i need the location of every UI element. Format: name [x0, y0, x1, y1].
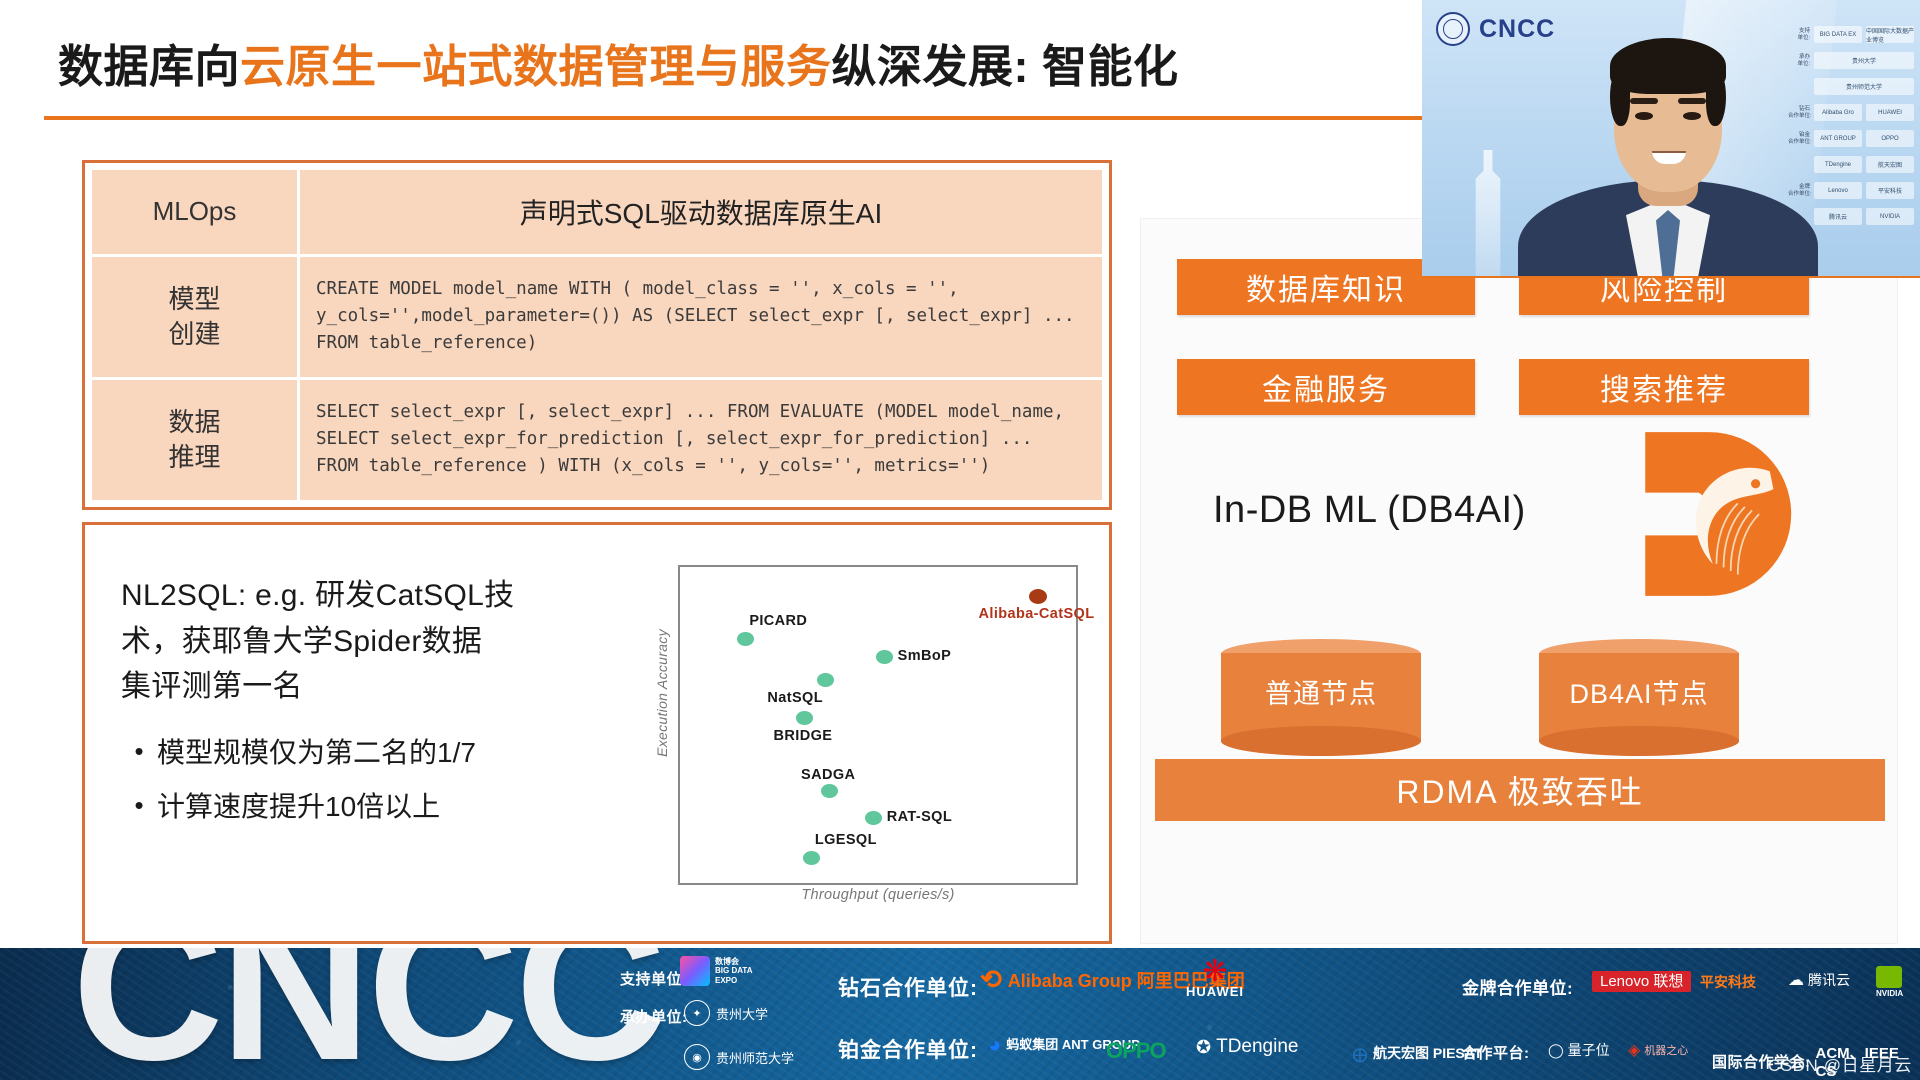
chart-point-label-bridge: BRIDGE — [774, 728, 833, 744]
title-segment-1: 数据库向 — [58, 30, 240, 95]
footer-group-label: 支持单位: — [620, 971, 688, 988]
nl2sql-line-2: 术，获耶鲁大学Spider数据 — [121, 619, 591, 665]
scatter-chart: Execution Accuracy PICARDSmBoPNatSQLBRID… — [630, 565, 1080, 905]
footer-logo-label: 量子位 — [1568, 1040, 1610, 1060]
footer-logo-guizhou-normal-university: ◉ 贵州师范大学 — [684, 1044, 794, 1070]
sponsor-footer: CNCC 支持单位: 数博会BIG DATAEXPO 承办单位: ✦ 贵州大学 … — [0, 948, 1920, 1080]
slide-canvas: 数据库向 云原生一站式数据管理与服务 纵深发展: 智能化 MLOps 声明式SQ… — [0, 0, 1920, 1080]
footer-logo-label: 平安科技 — [1700, 974, 1756, 990]
pip-sponsor-tag: 承办 单位: — [1788, 54, 1810, 68]
ant-icon: ◕ — [988, 1032, 1001, 1058]
footer-logo-label: TDengine — [1216, 1036, 1298, 1058]
pip-sponsor-logo: 贵州大学 — [1814, 52, 1914, 69]
rdma-throughput-bar: RDMA 极致吞吐 — [1155, 759, 1885, 821]
pip-sponsor-tag: 支持 单位: — [1788, 28, 1810, 42]
pip-sponsor-logo: 航天宏图 — [1866, 156, 1914, 173]
huawei-flower-icon: ❋ — [1186, 960, 1244, 984]
chart-point-label-natsql: NatSQL — [767, 690, 823, 706]
pip-sponsor-logo: OPPO — [1866, 130, 1914, 147]
title-segment-2: 云原生一站式数据管理与服务 — [240, 30, 832, 95]
footer-logo-tdengine: ✪ TDengine — [1196, 1036, 1298, 1058]
footer-logo-oppo: OPPO — [1106, 1038, 1166, 1064]
row-label-data-inference: 数据 推理 — [92, 380, 297, 500]
pip-sponsor-row: TDengine航天宏图 — [1788, 156, 1914, 173]
cncc-logo: CNCC — [1436, 12, 1555, 46]
chart-point-bridge — [796, 711, 813, 725]
row-label-line-2: 创建 — [92, 317, 297, 352]
db4ai-panel: 数据库知识 风险控制 金融服务 搜索推荐 In-DB ML (DB4AI) 普通… — [1140, 218, 1898, 944]
cylinder-bottom — [1539, 726, 1739, 756]
title-segment-3: 纵深发展: 智能化 — [832, 30, 1179, 95]
chart-point-label-smbop: SmBoP — [898, 648, 952, 664]
pip-sponsor-row: 腾讯云NVIDIA — [1788, 208, 1914, 225]
nl2sql-line-1: NL2SQL: e.g. 研发CatSQL技 — [121, 573, 591, 619]
university-seal-icon: ✦ — [684, 1000, 710, 1026]
footer-logo-guizhou-university: ✦ 贵州大学 — [684, 1000, 768, 1026]
footer-logo-huawei: ❋ HUAWEI — [1186, 960, 1244, 999]
footer-logo-label: 贵州大学 — [716, 1004, 768, 1023]
footer-group-host: 承办单位: — [620, 1006, 688, 1027]
footer-logo-label: NVIDIA — [1876, 989, 1903, 998]
cncc-watermark: CNCC — [72, 948, 663, 1080]
table-row: MLOps 声明式SQL驱动数据库原生AI — [92, 170, 1102, 254]
video-overlay[interactable]: CNCC 支持 单位:BIG DATA EX中国国际大数据产业博览承办 单位:贵… — [1422, 0, 1920, 278]
pip-sponsor-logo: 腾讯云 — [1814, 208, 1862, 225]
node-label-normal: 普通节点 — [1221, 679, 1421, 710]
pip-sponsor-logo: Lenovo — [1814, 182, 1862, 199]
dolphin-d-logo-icon — [1631, 425, 1809, 603]
chart-plot-area: PICARDSmBoPNatSQLBRIDGESADGARAT-SQLLGESQ… — [678, 565, 1078, 885]
pip-sponsor-tag: 铂金 合作单位: — [1788, 132, 1810, 146]
node-cylinder-normal: 普通节点 — [1221, 639, 1421, 755]
row-label-model-create: 模型 创建 — [92, 257, 297, 377]
chart-point-label-alibaba-catsql: Alibaba-CatSQL — [979, 606, 1095, 622]
pip-sponsor-logo: 中国国际大数据产业博览 — [1866, 26, 1914, 43]
mlops-table: MLOps 声明式SQL驱动数据库原生AI 模型 创建 CREATE MODEL… — [82, 160, 1112, 510]
pip-sponsor-row: 铂金 合作单位:ANT GROUPOPPO — [1788, 130, 1914, 147]
pip-sponsor-tag: 钻石 合作单位: — [1788, 106, 1810, 120]
footer-logo-jiqizhixin: ◈ 机器之心 — [1628, 1040, 1688, 1060]
csdn-credit: CSDN @日星月云 — [1768, 1051, 1912, 1076]
pip-sponsor-list: 支持 单位:BIG DATA EX中国国际大数据产业博览承办 单位:贵州大学贵州… — [1788, 26, 1914, 225]
footer-group-label: 钻石合作单位: — [838, 977, 978, 1000]
footer-logo-bigdata-expo: 数博会BIG DATAEXPO — [680, 956, 752, 986]
alibaba-mark-icon: ⟲ — [980, 964, 1002, 995]
bullet-icon: • — [121, 732, 157, 771]
capability-box-search-recommend[interactable]: 搜索推荐 — [1519, 359, 1809, 415]
row-label-line-1: 模型 — [168, 284, 220, 314]
university-seal-icon: ◉ — [684, 1044, 710, 1070]
row-content-model-create: CREATE MODEL model_name WITH ( model_cla… — [300, 257, 1102, 377]
node-cylinder-db4ai: DB4AI节点 — [1539, 639, 1739, 755]
bullet-label: 计算速度提升10倍以上 — [157, 786, 440, 828]
footer-group-diamond: 钻石合作单位: — [838, 972, 978, 1002]
bullet-icon: • — [121, 786, 157, 825]
chart-point-label-picard: PICARD — [749, 613, 807, 629]
nl2sql-panel: NL2SQL: e.g. 研发CatSQL技 术，获耶鲁大学Spider数据 集… — [82, 522, 1112, 944]
footer-logo-qbitai: ◯ 量子位 — [1548, 1040, 1610, 1060]
table-row: 数据 推理 SELECT select_expr [, select_expr]… — [92, 380, 1102, 500]
footer-logo-label: 腾讯云 — [1808, 970, 1850, 990]
footer-logo-label: OPPO — [1106, 1038, 1166, 1063]
pip-sponsor-logo: HUAWEI — [1866, 104, 1914, 121]
list-item: • 计算速度提升10倍以上 — [121, 786, 591, 828]
pip-sponsor-logo: 贵州师范大学 — [1814, 78, 1914, 95]
pip-sponsor-logo: Alibaba Gro — [1814, 104, 1862, 121]
footer-group-label: 承办单位: — [620, 1009, 688, 1026]
chart-point-natsql — [817, 673, 834, 687]
chart-point-label-sadga: SADGA — [801, 767, 855, 783]
list-item: • 模型规模仅为第二名的1/7 — [121, 732, 591, 774]
chart-point-label-rat-sql: RAT-SQL — [887, 809, 952, 825]
background-tower — [1460, 150, 1516, 278]
table-row: 模型 创建 CREATE MODEL model_name WITH ( mod… — [92, 257, 1102, 377]
bullet-label: 模型规模仅为第二名的1/7 — [157, 732, 476, 774]
footer-group-platinum: 铂金合作单位: — [838, 1034, 978, 1064]
footer-logo-pingan-tech: 平安科技 — [1700, 972, 1756, 992]
pip-sponsor-tag: 金牌 合作单位: — [1788, 184, 1810, 198]
footer-logo-nvidia: NVIDIA — [1876, 966, 1903, 998]
chart-point-lgesql — [803, 851, 820, 865]
tencent-cloud-icon: ☁ — [1788, 970, 1804, 990]
jiqizhixin-icon: ◈ — [1628, 1040, 1640, 1060]
piesat-globe-icon: 🜨 — [1352, 1034, 1368, 1073]
row-label-line-2: 推理 — [92, 440, 297, 475]
footer-group-platform: 合作平台: — [1462, 1042, 1530, 1063]
pip-sponsor-logo: TDengine — [1814, 156, 1862, 173]
footer-group-label: 金牌合作单位: — [1462, 979, 1573, 998]
row-label-mlops: MLOps — [92, 170, 297, 254]
cylinder-bottom — [1221, 726, 1421, 756]
tdengine-star-icon: ✪ — [1196, 1037, 1211, 1058]
footer-logo-label: 贵州师范大学 — [716, 1048, 794, 1067]
node-label-db4ai: DB4AI节点 — [1539, 679, 1739, 710]
chart-y-axis-label: Execution Accuracy — [654, 613, 670, 773]
footer-logo-lenovo: Lenovo 联想 — [1592, 970, 1691, 991]
footer-group-support: 支持单位: — [620, 968, 688, 989]
qbit-icon: ◯ — [1548, 1042, 1564, 1059]
pip-sponsor-row: 承办 单位:贵州大学 — [1788, 52, 1914, 69]
chart-point-rat-sql — [865, 811, 882, 825]
row-content-mlops: 声明式SQL驱动数据库原生AI — [300, 170, 1102, 254]
footer-logo-label: Lenovo 联想 — [1592, 971, 1691, 992]
presenter-avatar — [1518, 26, 1818, 276]
pip-sponsor-logo: 平安科技 — [1866, 182, 1914, 199]
footer-logo-label: 机器之心 — [1644, 1042, 1688, 1058]
indb-ml-title: In-DB ML (DB4AI) — [1213, 489, 1526, 532]
pip-sponsor-row: 钻石 合作单位:Alibaba GroHUAWEI — [1788, 104, 1914, 121]
pip-sponsor-logo: BIG DATA EX — [1814, 26, 1862, 43]
chart-point-smbop — [876, 650, 893, 664]
nl2sql-line-3: 集评测第一名 — [121, 664, 591, 710]
chart-point-alibaba-catsql — [1029, 589, 1047, 604]
footer-group-gold: 金牌合作单位: — [1462, 974, 1573, 999]
nl2sql-text-block: NL2SQL: e.g. 研发CatSQL技 术，获耶鲁大学Spider数据 集… — [121, 573, 591, 828]
chart-point-label-lgesql: LGESQL — [815, 832, 877, 848]
chart-x-axis-label: Throughput (queries/s) — [678, 887, 1078, 903]
chart-point-sadga — [821, 784, 838, 798]
page-title: 数据库向 云原生一站式数据管理与服务 纵深发展: 智能化 — [58, 14, 1378, 110]
cncc-brand-label: CNCC — [1479, 15, 1555, 44]
footer-group-label: 铂金合作单位: — [838, 1039, 978, 1062]
capability-box-financial-service[interactable]: 金融服务 — [1177, 359, 1475, 415]
pip-sponsor-logo: NVIDIA — [1866, 208, 1914, 225]
pip-sponsor-logo: ANT GROUP — [1814, 130, 1862, 147]
footer-logo-tencent-cloud: ☁ 腾讯云 — [1788, 970, 1850, 990]
chart-point-picard — [737, 632, 754, 646]
nl2sql-bullet-list: • 模型规模仅为第二名的1/7 • 计算速度提升10倍以上 — [121, 732, 591, 828]
ccf-seal-icon — [1436, 12, 1470, 46]
pip-sponsor-row: 支持 单位:BIG DATA EX中国国际大数据产业博览 — [1788, 26, 1914, 43]
pip-sponsor-row: 金牌 合作单位:Lenovo平安科技 — [1788, 182, 1914, 199]
footer-group-label: 合作平台: — [1462, 1045, 1530, 1062]
footer-logo-label: HUAWEI — [1186, 984, 1244, 999]
row-label-line-1: 数据 — [168, 407, 220, 437]
pip-sponsor-row: 贵州师范大学 — [1788, 78, 1914, 95]
row-content-data-inference: SELECT select_expr [, select_expr] ... F… — [300, 380, 1102, 500]
